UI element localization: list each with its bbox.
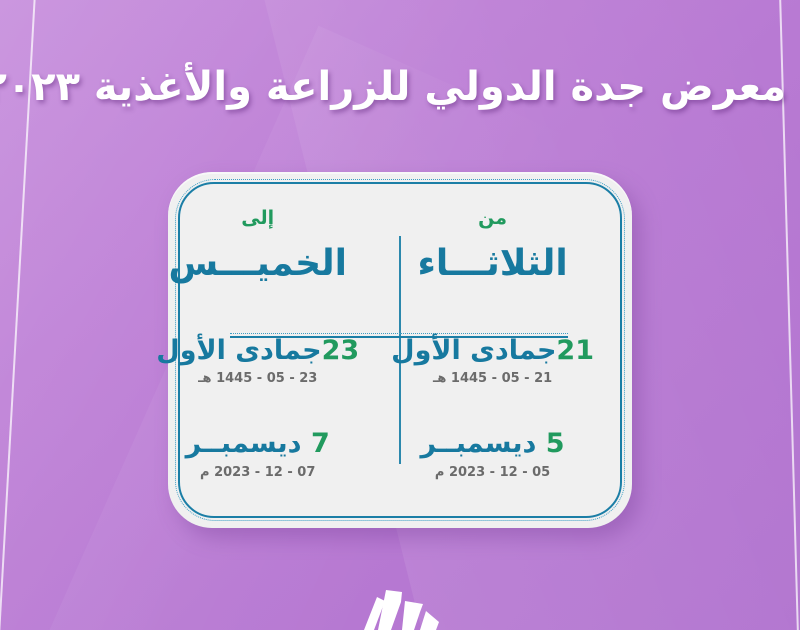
from-hijri-date: 21جمادى الأول <box>391 335 594 367</box>
from-label: من <box>391 208 594 229</box>
date-column-from-header: من الثلاثـــاء <box>375 198 610 307</box>
to-label: إلى <box>156 208 359 229</box>
to-gregorian-date: 7 ديسمبــر <box>156 428 359 460</box>
page-title: معرض جدة الدولي للزراعة والأغذية ٢٠٢٣ <box>0 64 800 110</box>
from-gregorian-date: 5 ديسمبــر <box>391 428 594 460</box>
poster-canvas: معرض جدة الدولي للزراعة والأغذية ٢٠٢٣ من… <box>0 0 800 630</box>
from-gregorian-day: 5 <box>546 428 565 459</box>
from-gregorian-month: ديسمبــر <box>421 428 537 459</box>
from-hijri-numeric: 21 - 05 - 1445 هـ <box>391 371 594 386</box>
date-column-from-gregorian: 5 ديسمبــر 05 - 12 - 2023 م <box>375 408 610 502</box>
to-weekday: الخميـــس <box>156 243 359 284</box>
from-weekday: الثلاثـــاء <box>391 243 594 284</box>
to-hijri-month: جمادى الأول <box>156 335 321 366</box>
leaf-fan-icon <box>344 584 456 630</box>
to-gregorian-day: 7 <box>311 428 330 459</box>
to-hijri-day: 23 <box>322 335 360 366</box>
date-column-from-hijri: 21جمادى الأول 21 - 05 - 1445 هـ <box>375 307 610 409</box>
dates-grid: من الثلاثـــاء إلى الخميـــس 21جمادى الأ… <box>190 198 610 502</box>
to-gregorian-numeric: 07 - 12 - 2023 م <box>156 465 359 480</box>
to-hijri-numeric: 23 - 05 - 1445 هـ <box>156 371 359 386</box>
event-dates-card: من الثلاثـــاء إلى الخميـــس 21جمادى الأ… <box>168 172 632 528</box>
date-column-to-header: إلى الخميـــس <box>140 198 375 307</box>
from-hijri-day: 21 <box>556 335 594 366</box>
date-column-to-hijri: 23جمادى الأول 23 - 05 - 1445 هـ <box>140 307 375 409</box>
from-hijri-month: جمادى الأول <box>391 335 556 366</box>
to-hijri-date: 23جمادى الأول <box>156 335 359 367</box>
to-gregorian-month: ديسمبــر <box>186 428 302 459</box>
date-column-to-gregorian: 7 ديسمبــر 07 - 12 - 2023 م <box>140 408 375 502</box>
from-gregorian-numeric: 05 - 12 - 2023 م <box>391 465 594 480</box>
